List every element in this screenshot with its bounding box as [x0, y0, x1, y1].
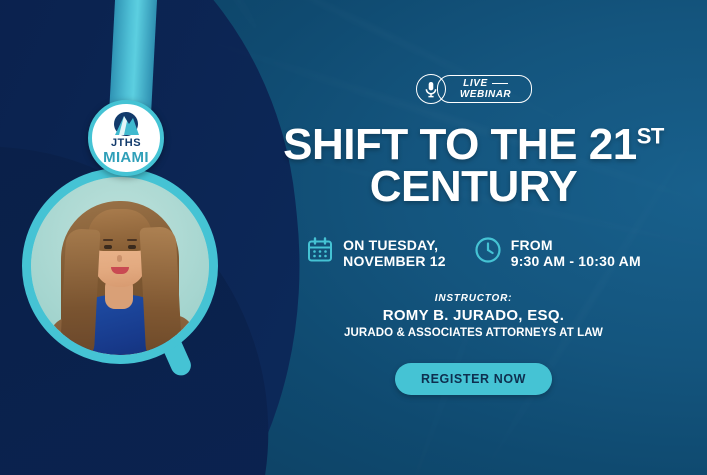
- page-title: SHIFT TO THE 21ST CENTURY: [283, 124, 664, 208]
- clock-icon: [474, 236, 502, 269]
- title-ordinal-suffix: ST: [637, 123, 664, 148]
- date-block: ON TUESDAY, NOVEMBER 12: [306, 236, 446, 269]
- portrait-eyebrow-left: [103, 239, 113, 241]
- mountain-wave-mark-icon: [109, 111, 143, 137]
- live-webinar-badge: LIVE WEBINAR: [416, 74, 532, 104]
- instructor-block: INSTRUCTOR: ROMY B. JURADO, ESQ. JURADO …: [344, 293, 603, 339]
- portrait-nose: [117, 255, 122, 262]
- time-line-1: FROM: [511, 237, 553, 253]
- live-webinar-pill: LIVE WEBINAR: [437, 75, 532, 103]
- live-line: LIVE: [463, 79, 508, 89]
- content-column: LIVE WEBINAR SHIFT TO THE 21ST CENTURY: [240, 0, 707, 475]
- portrait-hair-left: [60, 228, 101, 355]
- avatar: [31, 177, 209, 355]
- time-text: FROM 9:30 AM - 10:30 AM: [511, 237, 641, 269]
- register-now-button[interactable]: REGISTER NOW: [395, 363, 552, 395]
- live-label: LIVE: [463, 79, 488, 89]
- title-line-1: SHIFT TO THE 21ST: [283, 124, 664, 166]
- date-text: ON TUESDAY, NOVEMBER 12: [343, 237, 446, 269]
- speaker-photo: [22, 168, 218, 364]
- jths-miami-logo: JTHS MIAMI: [88, 100, 164, 176]
- date-line-2: NOVEMBER 12: [343, 253, 446, 269]
- portrait-eye-right: [128, 245, 136, 249]
- calendar-icon: [306, 236, 334, 269]
- logo-text-jths: JTHS: [111, 138, 141, 149]
- webinar-label: WEBINAR: [460, 89, 511, 100]
- time-block: FROM 9:30 AM - 10:30 AM: [474, 236, 641, 269]
- portrait-eyebrow-right: [127, 239, 137, 241]
- logo-text-miami: MIAMI: [103, 150, 149, 165]
- portrait-hair-right: [139, 226, 182, 355]
- date-line-1: ON TUESDAY,: [343, 237, 438, 253]
- live-dash: [492, 83, 508, 85]
- microphone-icon: [416, 74, 446, 104]
- portrait-eye-left: [104, 245, 112, 249]
- time-line-2: 9:30 AM - 10:30 AM: [511, 253, 641, 269]
- date-time-row: ON TUESDAY, NOVEMBER 12 FROM 9:30 AM - 1…: [306, 236, 641, 269]
- webinar-poster: JTHS MIAMI LIVE WEBINAR: [0, 0, 707, 475]
- instructor-label: INSTRUCTOR:: [344, 293, 603, 304]
- instructor-firm: JURADO & ASSOCIATES ATTORNEYS AT LAW: [344, 327, 603, 339]
- title-line-2: CENTURY: [283, 166, 664, 208]
- photo-ring: [22, 168, 218, 364]
- instructor-name: ROMY B. JURADO, ESQ.: [344, 307, 603, 324]
